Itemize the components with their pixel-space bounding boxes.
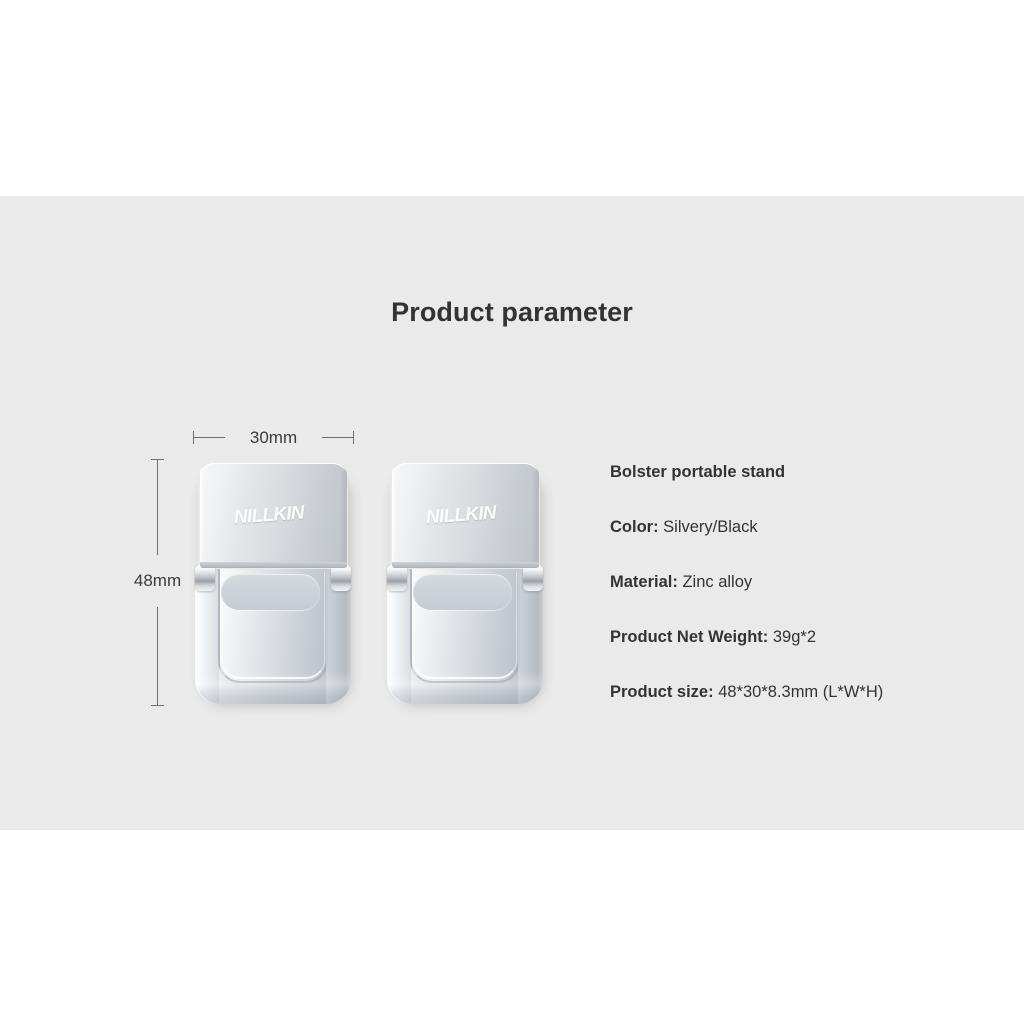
product-hinge-pivot-right bbox=[331, 565, 351, 591]
product-image-unit-2: NILLKIN bbox=[384, 463, 546, 706]
height-dimension-label: 48mm bbox=[124, 555, 191, 607]
product-flap-highlight-left bbox=[200, 467, 204, 567]
height-dimension-cap-bottom bbox=[151, 705, 164, 706]
product-flap-shade-right bbox=[340, 467, 347, 567]
spec-key-color: Color: bbox=[610, 518, 659, 536]
product-flap-bottom-edge bbox=[392, 562, 539, 568]
spec-row-heading: Bolster portable stand bbox=[610, 462, 1010, 517]
product-parameter-page: Product parameter 30mm 48mm NILLKIN bbox=[0, 0, 1024, 1024]
product-spec-list: Bolster portable stand Color: Silvery/Bl… bbox=[610, 462, 1010, 737]
page-title: Product parameter bbox=[0, 297, 1024, 328]
product-hinge-pivot-left bbox=[195, 565, 215, 591]
width-dimension-cap-right bbox=[353, 431, 354, 444]
spec-row-product-size: Product size: 48*30*8.3mm (L*W*H) bbox=[610, 682, 1010, 737]
product-base-bottom-rim bbox=[195, 671, 351, 704]
product-hinge-pivot-left bbox=[387, 565, 407, 591]
spec-row-color: Color: Silvery/Black bbox=[610, 517, 1010, 572]
product-rubber-pad bbox=[221, 574, 320, 610]
spec-value-color: Silvery/Black bbox=[663, 518, 757, 536]
product-hinge-pivot-right bbox=[523, 565, 543, 591]
spec-row-material: Material: Zinc alloy bbox=[610, 572, 1010, 627]
product-rubber-pad bbox=[413, 574, 512, 610]
spec-heading-label: Bolster portable stand bbox=[610, 463, 785, 481]
width-dimension-label: 30mm bbox=[225, 421, 322, 454]
height-dimension-indicator: 48mm bbox=[126, 459, 189, 707]
spec-key-material: Material: bbox=[610, 573, 678, 591]
spec-value-net-weight: 39g*2 bbox=[773, 628, 816, 646]
spec-row-net-weight: Product Net Weight: 39g*2 bbox=[610, 627, 1010, 682]
height-dimension-cap-top bbox=[151, 459, 164, 460]
product-flap-highlight-left bbox=[392, 467, 396, 567]
spec-value-material: Zinc alloy bbox=[682, 573, 752, 591]
spec-key-net-weight: Product Net Weight: bbox=[610, 628, 768, 646]
width-dimension-cap-left bbox=[193, 431, 194, 444]
spec-key-product-size: Product size: bbox=[610, 683, 714, 701]
product-image-unit-1: NILLKIN bbox=[192, 463, 354, 706]
product-base-bottom-rim bbox=[387, 671, 543, 704]
product-flap-shade-right bbox=[532, 467, 539, 567]
spec-value-product-size: 48*30*8.3mm (L*W*H) bbox=[718, 683, 883, 701]
width-dimension-indicator: 30mm bbox=[193, 421, 354, 454]
product-flap-bottom-edge bbox=[200, 562, 347, 568]
